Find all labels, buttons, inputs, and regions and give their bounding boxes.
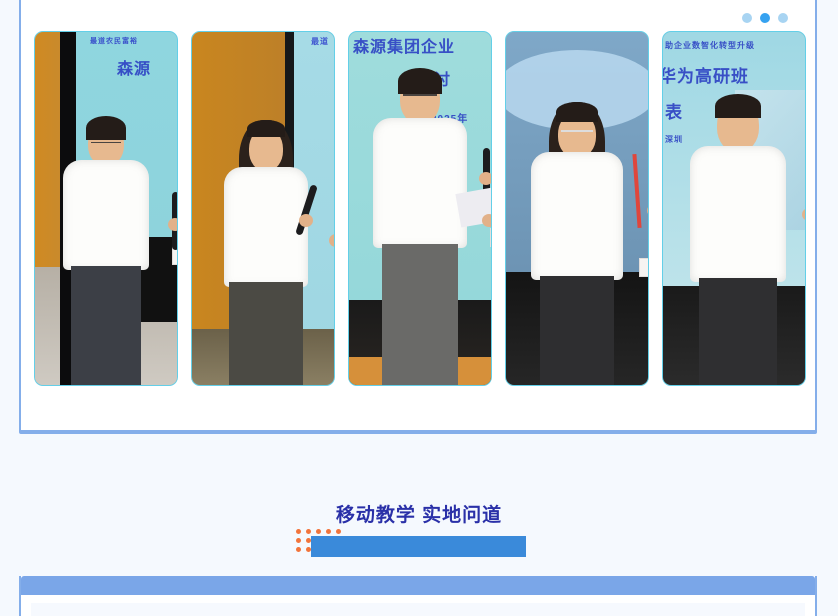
slide-top-text: 助企业数智化转型升级	[665, 40, 755, 51]
carousel-pagination[interactable]	[742, 13, 788, 23]
hand-2	[482, 214, 492, 227]
accent-graphic-group	[296, 529, 528, 559]
hand	[168, 218, 178, 231]
photo-scene: 最道	[192, 32, 334, 385]
glasses	[91, 142, 121, 147]
grid-dot	[336, 529, 341, 534]
legs	[540, 276, 614, 386]
gallery-photo-3[interactable]: 森源集团企业 研讨 2025年	[348, 31, 492, 386]
grid-dot	[316, 529, 321, 534]
hair	[86, 116, 126, 140]
slide-main-text: 华为高研班	[662, 62, 749, 87]
legs	[382, 244, 458, 386]
hair	[556, 102, 598, 122]
photo-strip: 最道农民富裕 森源	[34, 31, 806, 386]
slide-foot-text: 深圳	[665, 134, 683, 145]
carousel-dot-1[interactable]	[742, 13, 752, 23]
grid-dot	[296, 529, 301, 534]
hair	[247, 120, 285, 137]
accent-bar	[311, 536, 526, 557]
carousel-dot-3[interactable]	[778, 13, 788, 23]
slide-main-text: 森源	[117, 55, 151, 79]
bottom-card-body	[23, 595, 813, 616]
hand	[299, 214, 313, 227]
torso-shirt	[531, 152, 623, 280]
gallery-photo-5[interactable]: 助企业数智化转型升级 华为高研班 表 深圳	[662, 31, 806, 386]
glasses	[561, 130, 593, 137]
carousel-dot-2[interactable]	[760, 13, 770, 23]
slide-top-text: 最道	[311, 36, 329, 47]
slide-top-text: 最道农民富裕	[90, 36, 138, 46]
legs	[71, 266, 141, 386]
gallery-photo-2[interactable]: 最道	[191, 31, 335, 386]
torso-shirt	[690, 146, 786, 282]
photo-scene: 助企业数智化转型升级 华为高研班 表 深圳	[663, 32, 805, 385]
bottom-card-header	[21, 576, 815, 595]
hand	[479, 172, 492, 185]
wood-wall	[35, 32, 60, 267]
section-heading: 移动教学 实地问道	[0, 500, 838, 527]
legs	[229, 282, 303, 386]
gallery-photo-4[interactable]	[505, 31, 649, 386]
glasses	[403, 94, 437, 101]
torso-shirt	[373, 118, 467, 248]
grid-dot	[306, 529, 311, 534]
badge	[490, 228, 492, 247]
photo-scene: 森源集团企业 研讨 2025年	[349, 32, 491, 385]
bottom-content-card	[19, 576, 817, 616]
photo-scene	[506, 32, 648, 385]
legs	[699, 278, 777, 386]
torso-shirt	[63, 160, 149, 270]
hair	[715, 94, 761, 118]
photo-scene: 最道农民富裕 森源	[35, 32, 177, 385]
torso-shirt	[224, 167, 308, 287]
grid-dot	[296, 538, 301, 543]
slide-sub-text: 表	[665, 98, 683, 123]
slide-top-text: 森源集团企业	[353, 33, 455, 57]
grid-dot	[326, 529, 331, 534]
hair	[398, 68, 442, 94]
badge	[639, 258, 649, 277]
gallery-photo-1[interactable]: 最道农民富裕 森源	[34, 31, 178, 386]
photo-gallery-panel: 最道农民富裕 森源	[19, 0, 817, 434]
grid-dot	[296, 547, 301, 552]
